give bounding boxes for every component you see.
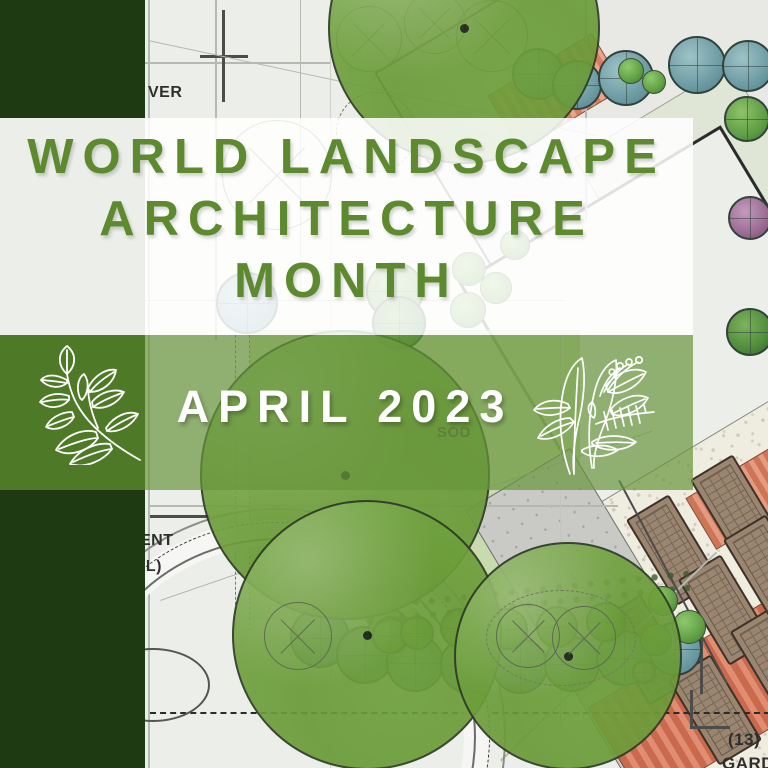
poster-subheadline: APRIL 2023 xyxy=(145,381,545,433)
plan-tree-symbol xyxy=(724,96,768,142)
plan-canopy-marker xyxy=(264,602,332,670)
plan-leader-line xyxy=(690,690,693,728)
green-band-solid xyxy=(0,335,145,490)
plan-label-quantity-13: (13) xyxy=(728,730,760,750)
headline-line-3: MONTH xyxy=(0,250,693,312)
poster-headline: WORLD LANDSCAPE ARCHITECTURE MONTH xyxy=(0,126,693,312)
canopy-center-dot xyxy=(460,24,469,33)
plan-tree-symbol xyxy=(728,196,768,240)
canopy-center-dot xyxy=(363,631,372,640)
plan-tree-symbol xyxy=(668,36,726,94)
plan-label-gard: GARD xyxy=(722,754,768,768)
plan-shrub-symbol xyxy=(642,70,666,94)
plan-tree-symbol xyxy=(726,308,768,356)
headline-line-2: ARCHITECTURE xyxy=(0,188,693,250)
plan-shrub-symbol xyxy=(618,58,644,84)
plan-canopy-marker xyxy=(486,590,636,686)
plan-label-ent: ENT xyxy=(140,532,174,550)
plan-label-ver: VER xyxy=(148,84,182,102)
plan-leader-line xyxy=(690,726,730,729)
headline-line-1: WORLD LANDSCAPE xyxy=(0,126,693,188)
plan-tree-symbol xyxy=(722,40,768,92)
poster-canvas: VER SOD ENT (L) (13) GARD xyxy=(0,0,768,768)
plan-leader-line xyxy=(150,515,210,518)
